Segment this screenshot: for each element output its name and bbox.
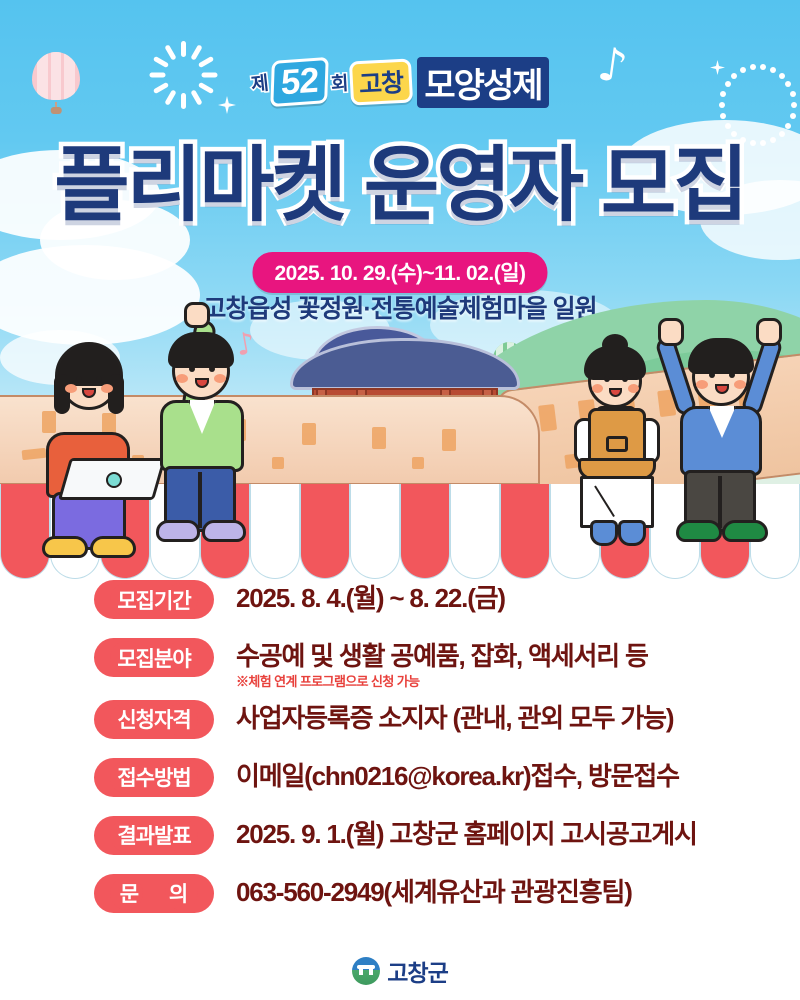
scallop-segment <box>400 484 450 579</box>
info-row: 신청자격사업자등록증 소지자 (관내, 관외 모두 가능) <box>0 700 800 748</box>
info-row-value-text: 사업자등록증 소지자 (관내, 관외 모두 가능) <box>236 703 673 733</box>
logo-edition-prefix: 제 <box>250 68 269 97</box>
page-title: 플리마켓 운영자 모집 <box>0 118 800 237</box>
info-row-label: 접수방법 <box>94 758 214 797</box>
character-boy-arm-up <box>140 308 270 540</box>
info-row-label-text: 결과발표 <box>117 820 190 850</box>
logo-edition-number: 52 <box>270 57 328 107</box>
info-row-value: 2025. 8. 4.(월) ~ 8. 22.(금) <box>236 580 800 615</box>
footer: 고창군 <box>0 954 800 988</box>
info-row-value-text: 이메일(chn0216@korea.kr)접수, 방문접수 <box>236 761 679 791</box>
info-row: 결과발표2025. 9. 1.(월) 고창군 홈페이지 고시공고게시 <box>0 816 800 864</box>
organization-name: 고창군 <box>387 954 447 988</box>
info-row: 모집분야수공예 및 생활 공예품, 잡화, 액세서리 등※체험 연계 프로그램으… <box>0 638 800 690</box>
scallop-segment <box>350 484 400 579</box>
poster-canvas: ♪ ♪ 제 52 회 고창 모양성제 플리마켓 운영자 모집 2025. 10.… <box>0 0 800 1000</box>
info-row-label-text: 신청자격 <box>117 704 190 734</box>
logo-edition-suffix: 회 <box>330 68 348 96</box>
info-row-value-text: 2025. 8. 4.(월) ~ 8. 22.(금) <box>236 583 505 613</box>
info-row: 모집기간2025. 8. 4.(월) ~ 8. 22.(금) <box>0 580 800 628</box>
info-row-value-text: 063-560-2949(세계유산과 관광진흥팀) <box>236 877 632 907</box>
info-row-value: 063-560-2949(세계유산과 관광진흥팀) <box>236 874 800 909</box>
info-row-label-text: 모집기간 <box>117 585 190 615</box>
logo-festival-name: 모양성제 <box>417 57 548 108</box>
info-row-value-text: 수공예 및 생활 공예품, 잡화, 액세서리 등 <box>236 641 648 671</box>
info-row-label-text: 문 의 <box>108 878 200 908</box>
info-row: 문 의063-560-2949(세계유산과 관광진흥팀) <box>0 874 800 922</box>
info-row-label: 모집분야 <box>94 638 214 677</box>
info-list: 모집기간2025. 8. 4.(월) ~ 8. 22.(금)모집분야수공예 및 … <box>0 580 800 932</box>
scallop-segment <box>300 484 350 579</box>
info-row: 접수방법이메일(chn0216@korea.kr)접수, 방문접수 <box>0 758 800 806</box>
info-row-value: 이메일(chn0216@korea.kr)접수, 방문접수 <box>236 758 800 793</box>
info-row-label-text: 접수방법 <box>117 762 190 792</box>
info-row-value-text: 2025. 9. 1.(월) 고창군 홈페이지 고시공고게시 <box>236 819 697 849</box>
info-row-label: 결과발표 <box>94 816 214 855</box>
character-girl-with-laptop <box>28 340 158 540</box>
info-row-label: 문 의 <box>94 874 214 913</box>
info-row-label: 모집기간 <box>94 580 214 619</box>
info-row-label-text: 모집분야 <box>117 643 190 673</box>
info-row-label: 신청자격 <box>94 700 214 739</box>
info-row-value: 수공예 및 생활 공예품, 잡화, 액세서리 등※체험 연계 프로그램으로 신청… <box>236 638 800 690</box>
info-row-value: 2025. 9. 1.(월) 고창군 홈페이지 고시공고게시 <box>236 816 800 851</box>
gochang-county-logo-icon <box>352 957 380 985</box>
character-boy-arms-up <box>660 308 790 540</box>
info-row-value: 사업자등록증 소지자 (관내, 관외 모두 가능) <box>236 700 800 735</box>
scallop-segment <box>450 484 500 579</box>
event-date-badge: 2025. 10. 29.(수)~11. 02.(일) <box>252 252 547 293</box>
scallop-segment <box>500 484 550 579</box>
info-row-note: ※체험 연계 프로그램으로 신청 가능 <box>236 674 800 690</box>
festival-logo: 제 52 회 고창 모양성제 <box>0 58 800 106</box>
logo-region: 고창 <box>349 58 413 105</box>
